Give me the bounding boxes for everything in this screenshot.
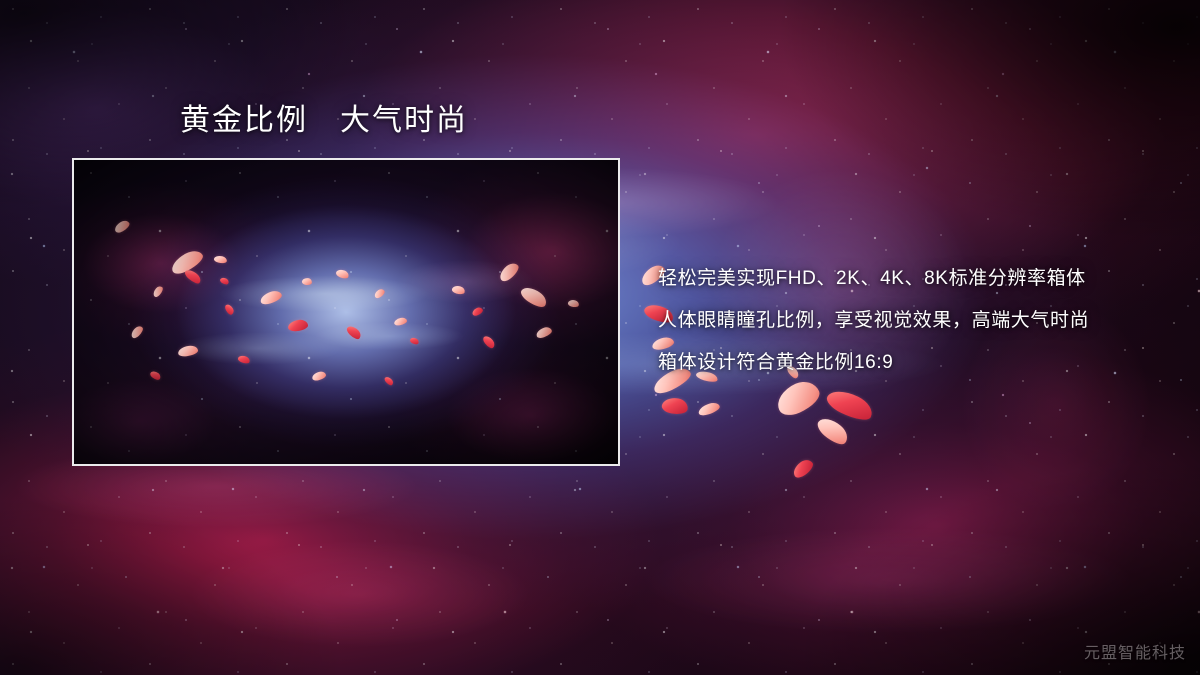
body-line-3: 箱体设计符合黄金比例16:9 bbox=[658, 342, 1178, 384]
presentation-slide: 黄金比例 大气时尚 轻松完美实现FHD、2K、4K、8K标准分辨率箱体 人体眼睛… bbox=[0, 0, 1200, 675]
body-line-1: 轻松完美实现FHD、2K、4K、8K标准分辨率箱体 bbox=[658, 258, 1178, 300]
body-copy: 轻松完美实现FHD、2K、4K、8K标准分辨率箱体 人体眼睛瞳孔比例，享受视觉效… bbox=[658, 258, 1178, 384]
picture-frame bbox=[72, 158, 620, 466]
flower-petal bbox=[790, 457, 815, 480]
picture-content bbox=[74, 160, 618, 464]
flower-petal bbox=[697, 401, 721, 417]
picture-vignette bbox=[74, 160, 618, 464]
flower-petal bbox=[661, 396, 689, 416]
flower-petal bbox=[814, 413, 852, 449]
flower-petal bbox=[824, 385, 877, 426]
page-title: 黄金比例 大气时尚 bbox=[180, 102, 468, 140]
watermark: 元盟智能科技 bbox=[1084, 639, 1186, 663]
body-line-2: 人体眼睛瞳孔比例，享受视觉效果，高端大气时尚 bbox=[658, 300, 1178, 342]
